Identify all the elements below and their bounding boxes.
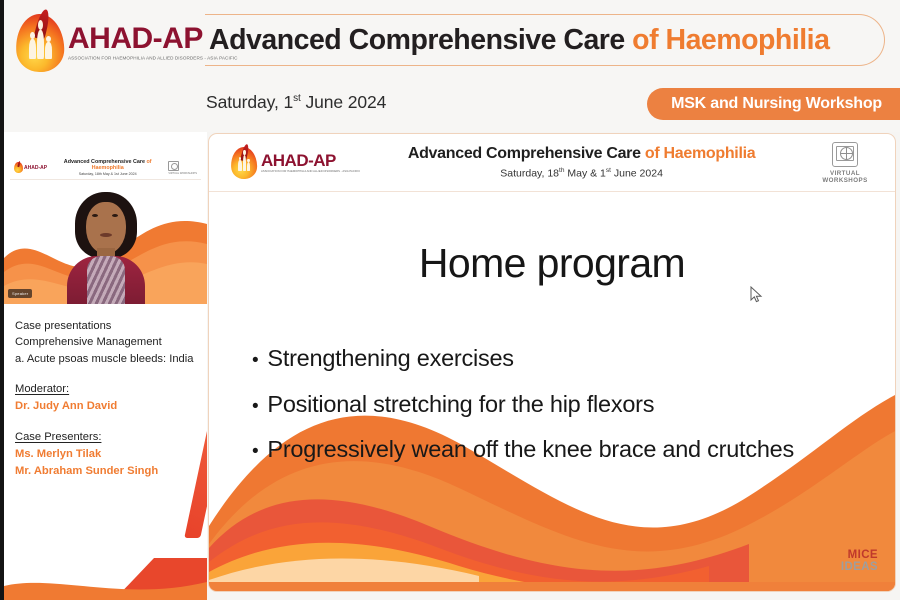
presenters-label: Case Presenters: bbox=[15, 429, 205, 446]
bullet-item-2: • Positional stretching for the hip flex… bbox=[252, 393, 865, 417]
bullet-text-1: Strengthening exercises bbox=[267, 347, 513, 371]
moderator-name: Dr. Judy Ann David bbox=[15, 398, 205, 415]
session-line-1: Case presentations bbox=[15, 318, 205, 334]
video-banner-icon-group: VIRTUAL WORKSHOPS bbox=[168, 161, 197, 175]
video-slide-banner: AHAD-AP Advanced Comprehensive Care of H… bbox=[10, 156, 201, 180]
slide-header-title-accent: of Haemophilia bbox=[645, 145, 755, 162]
slide-bullet-list: • Strengthening exercises • Positional s… bbox=[252, 347, 865, 484]
page-title-main: Advanced Comprehensive Care bbox=[209, 24, 632, 56]
event-date-ordinal: st bbox=[293, 93, 301, 104]
blood-drop-flame-icon-slide bbox=[231, 147, 257, 179]
slide-header-date: Saturday, 18th May & 1st June 2024 bbox=[350, 167, 813, 181]
mouse-pointer-arrow-icon bbox=[750, 286, 764, 304]
screen-root: AHAD-AP ASSOCIATION FOR HAEMOPHILIA AND … bbox=[0, 0, 900, 600]
watermark-line-2: IDEAS bbox=[841, 562, 878, 574]
virtual-workshops-block: VIRTUAL WORKSHOPS bbox=[813, 142, 877, 184]
video-banner-icon-label: VIRTUAL WORKSHOPS bbox=[168, 172, 197, 175]
speaker-name-chip: Speaker bbox=[8, 289, 32, 298]
moderator-label: Moderator: bbox=[15, 381, 205, 398]
presenter-name-1: Ms. Merlyn Tilak bbox=[15, 446, 205, 463]
bullet-glyph: • bbox=[252, 442, 258, 461]
video-banner-brand: AHAD-AP bbox=[24, 165, 47, 171]
bullet-text-3: Progressively wean off the knee brace an… bbox=[267, 438, 794, 462]
bullet-item-3: • Progressively wean off the knee brace … bbox=[252, 438, 865, 462]
mice-ideas-watermark: MICE IDEAS bbox=[841, 550, 878, 573]
bullet-glyph: • bbox=[252, 397, 258, 416]
session-info: Case presentations Comprehensive Managem… bbox=[15, 318, 205, 479]
slide-brand-name: AHAD-AP bbox=[261, 152, 360, 169]
presenter-avatar bbox=[67, 192, 145, 304]
slide-logo: AHAD-AP ASSOCIATION FOR HAEMOPHILIA AND … bbox=[231, 147, 360, 179]
virtual-workshops-label: VIRTUAL WORKSHOPS bbox=[813, 170, 877, 184]
presenter-sidebar: AHAD-AP Advanced Comprehensive Care of H… bbox=[4, 132, 207, 600]
watermark-line-1: MICE bbox=[841, 550, 878, 562]
session-line-3: a. Acute psoas muscle bleeds: India bbox=[15, 351, 205, 367]
event-date: Saturday, 1st June 2024 bbox=[206, 92, 386, 113]
event-date-main: Saturday, 1 bbox=[206, 92, 293, 112]
slide-header: AHAD-AP ASSOCIATION FOR HAEMOPHILIA AND … bbox=[209, 134, 895, 192]
event-date-rest: June 2024 bbox=[301, 92, 387, 112]
page-title-accent: of Haemophilia bbox=[632, 24, 829, 56]
virtual-workshops-monitor-icon bbox=[832, 142, 858, 167]
blood-drop-flame-icon-mini bbox=[14, 162, 23, 173]
video-banner-text: Advanced Comprehensive Care of Haemophil… bbox=[51, 159, 164, 177]
virtual-workshops-monitor-icon-mini bbox=[168, 161, 179, 171]
workshop-badge: MSK and Nursing Workshop bbox=[647, 88, 900, 120]
slide-title: Home program bbox=[209, 240, 895, 287]
video-banner-date: Saturday, 18th May & 1st June 2024 bbox=[51, 172, 164, 176]
blood-drop-flame-icon bbox=[16, 14, 64, 72]
speaker-video-tile[interactable]: AHAD-AP Advanced Comprehensive Care of H… bbox=[4, 132, 207, 304]
video-banner-logo: AHAD-AP bbox=[14, 162, 47, 173]
bullet-text-2: Positional stretching for the hip flexor… bbox=[267, 393, 654, 417]
video-banner-title: Advanced Comprehensive Care bbox=[64, 159, 147, 165]
page-header: AHAD-AP ASSOCIATION FOR HAEMOPHILIA AND … bbox=[0, 0, 900, 132]
sidebar-decoration-bottom bbox=[4, 558, 207, 600]
presenter-name-2: Mr. Abraham Sunder Singh bbox=[15, 463, 205, 480]
page-title: Advanced Comprehensive Care of Haemophil… bbox=[205, 24, 829, 57]
bullet-item-1: • Strengthening exercises bbox=[252, 347, 865, 371]
header-title-pill: Advanced Comprehensive Care of Haemophil… bbox=[205, 14, 885, 66]
slide-body: Home program • Strengthening exercises •… bbox=[209, 192, 895, 591]
bullet-glyph: • bbox=[252, 351, 258, 370]
slide-brand-subtitle: ASSOCIATION FOR HAEMOPHILIA AND ALLIED D… bbox=[261, 171, 360, 173]
session-line-2: Comprehensive Management bbox=[15, 334, 205, 350]
sidebar-bottom-waves bbox=[4, 558, 207, 600]
slide-header-title: Advanced Comprehensive Care bbox=[408, 145, 645, 162]
presentation-slide[interactable]: AHAD-AP ASSOCIATION FOR HAEMOPHILIA AND … bbox=[208, 133, 896, 592]
slide-header-text: Advanced Comprehensive Care of Haemophil… bbox=[350, 144, 813, 181]
window-left-edge bbox=[0, 0, 4, 600]
